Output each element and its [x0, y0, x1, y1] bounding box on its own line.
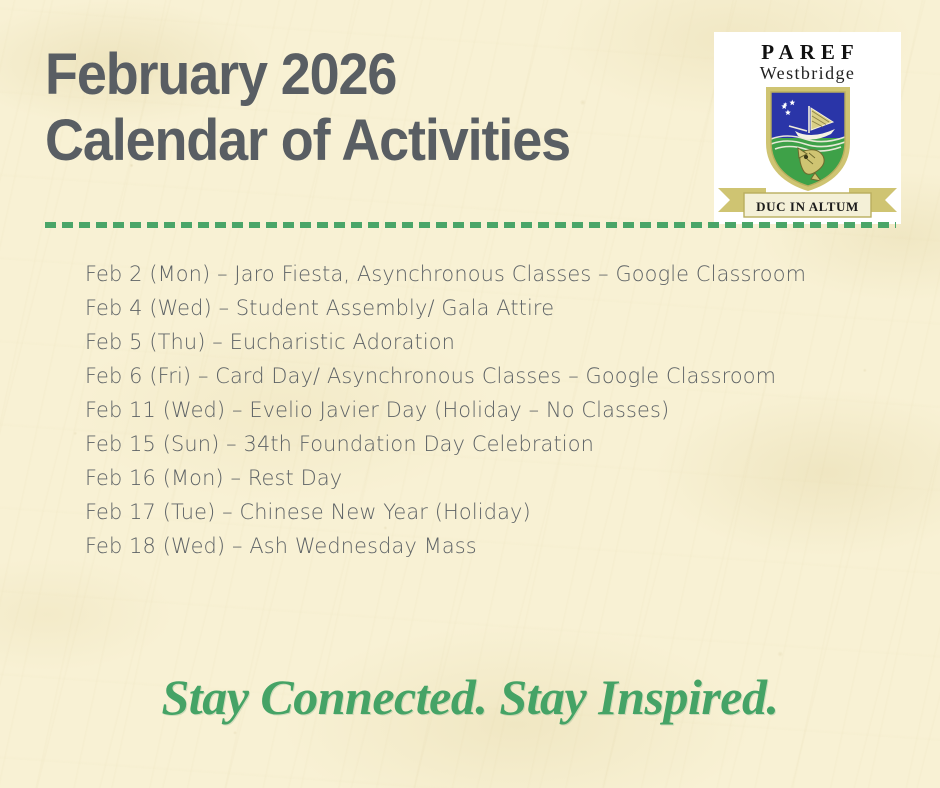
list-item: Feb 6 (Fri) – Card Day/ Asynchronous Cla…	[85, 360, 851, 394]
paref-westbridge-logo: PAREF Westbridge	[714, 32, 901, 224]
list-item: Feb 11 (Wed) – Evelio Javier Day (Holida…	[85, 394, 851, 428]
logo-campus-name: Westbridge	[714, 63, 901, 84]
title-line-month: February 2026	[45, 42, 659, 108]
tagline: Stay Connected. Stay Inspired.	[0, 668, 940, 726]
list-item: Feb 2 (Mon) – Jaro Fiesta, Asynchronous …	[85, 258, 851, 292]
list-item: Feb 16 (Mon) – Rest Day	[85, 462, 851, 496]
events-list: Feb 2 (Mon) – Jaro Fiesta, Asynchronous …	[85, 258, 875, 564]
shield-icon	[765, 86, 851, 192]
list-item: Feb 4 (Wed) – Student Assembly/ Gala Att…	[85, 292, 851, 326]
list-item: Feb 5 (Thu) – Eucharistic Adoration	[85, 326, 851, 360]
list-item: Feb 15 (Sun) – 34th Foundation Day Celeb…	[85, 428, 851, 462]
dashed-divider	[45, 222, 896, 228]
motto-ribbon: DUC IN ALTUM	[714, 182, 901, 222]
page-title: February 2026 Calendar of Activities	[45, 42, 705, 174]
title-line-subtitle: Calendar of Activities	[45, 108, 659, 174]
calendar-poster: February 2026 Calendar of Activities PAR…	[0, 0, 940, 788]
logo-org-name: PAREF	[714, 40, 901, 65]
list-item: Feb 17 (Tue) – Chinese New Year (Holiday…	[85, 496, 851, 530]
list-item: Feb 18 (Wed) – Ash Wednesday Mass	[85, 530, 851, 564]
motto-text: DUC IN ALTUM	[714, 199, 901, 215]
